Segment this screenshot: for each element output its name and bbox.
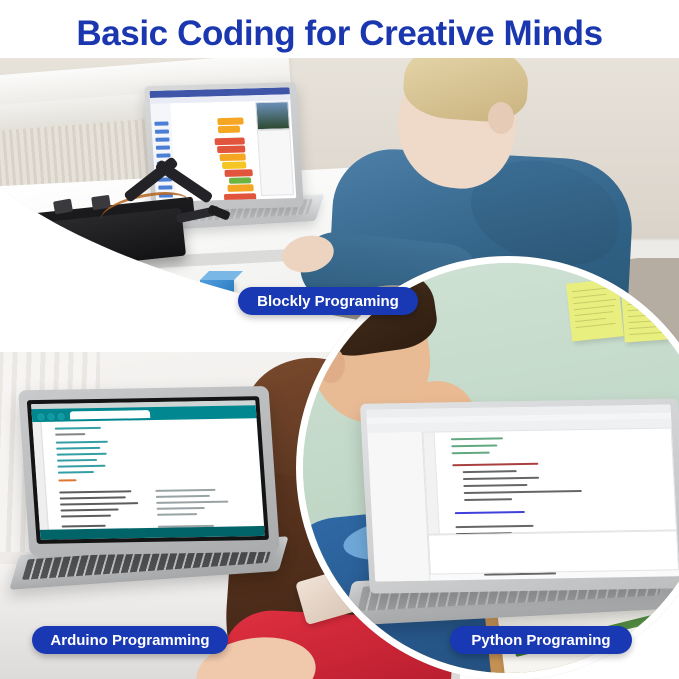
blockly-block[interactable]	[229, 177, 251, 184]
code-line	[55, 427, 101, 430]
code-line	[463, 477, 539, 480]
code-line	[452, 463, 538, 466]
wall-shelf	[0, 290, 213, 331]
blockly-block[interactable]	[218, 126, 240, 134]
code-line	[57, 453, 107, 456]
code-line	[58, 471, 94, 474]
blockly-block[interactable]	[227, 184, 253, 192]
code-line	[57, 459, 97, 462]
code-line	[55, 433, 85, 436]
blockly-block[interactable]	[217, 145, 245, 153]
blockly-screen[interactable]	[149, 87, 296, 201]
shelf-object	[58, 281, 80, 296]
code-line	[464, 490, 582, 494]
code-line	[455, 525, 533, 528]
code-line	[451, 444, 497, 447]
code-line	[155, 489, 215, 492]
code-line	[60, 502, 138, 505]
blockly-side-panel	[257, 129, 294, 196]
sketch-tab[interactable]	[70, 410, 151, 419]
code-line	[463, 484, 527, 487]
label-arduino-programming[interactable]: Arduino Programming	[32, 626, 228, 654]
verify-button[interactable]	[36, 412, 47, 422]
blockly-block[interactable]	[224, 169, 252, 177]
shelf-object	[30, 280, 50, 296]
code-line	[157, 507, 205, 510]
python-ide-screen[interactable]	[366, 404, 679, 581]
blockly-block[interactable]	[214, 137, 244, 145]
python-file-pane[interactable]	[367, 432, 430, 582]
code-line	[61, 515, 111, 518]
camera-preview	[255, 101, 290, 130]
macbook-lid	[18, 386, 280, 556]
blue-cube	[200, 280, 234, 314]
macbook-bezel	[27, 396, 269, 544]
arduino-status-bar	[40, 526, 265, 540]
code-line	[58, 479, 76, 481]
code-line	[56, 441, 108, 444]
arduino-ide-screen[interactable]	[31, 400, 265, 540]
label-python-programming[interactable]: Python Programing	[450, 626, 632, 654]
code-line	[59, 490, 131, 493]
blockly-block[interactable]	[224, 193, 256, 201]
sticky-note	[621, 288, 669, 343]
blockly-block[interactable]	[222, 161, 246, 169]
python-editor-pane[interactable]	[423, 427, 678, 534]
arduino-code-area[interactable]	[42, 420, 262, 527]
code-line	[60, 496, 126, 499]
code-line	[62, 525, 106, 528]
new-sketch-button[interactable]	[56, 412, 67, 422]
python-shell-pane[interactable]	[428, 530, 679, 574]
page-title: Basic Coding for Creative Minds	[0, 14, 679, 54]
code-line	[60, 508, 118, 511]
blockly-block[interactable]	[219, 153, 245, 161]
sticky-note	[566, 278, 624, 341]
label-blockly-programming[interactable]: Blockly Programing	[238, 287, 418, 315]
code-line	[156, 495, 210, 498]
code-line	[156, 501, 228, 504]
arduino-toolbar[interactable]	[31, 405, 256, 422]
code-line	[157, 513, 197, 516]
code-line	[455, 511, 525, 514]
shelf-object	[90, 286, 116, 295]
code-line	[492, 579, 580, 582]
blockly-block[interactable]	[226, 201, 256, 202]
upload-button[interactable]	[46, 412, 57, 422]
code-line	[464, 498, 512, 501]
code-line	[452, 452, 490, 455]
poster-canvas: Basic Coding for Creative Minds	[0, 0, 679, 679]
code-line	[57, 465, 105, 468]
python-laptop-lid	[360, 398, 679, 593]
code-line	[451, 437, 503, 440]
circle-boy-ear	[317, 347, 345, 383]
code-line	[56, 447, 100, 450]
blockly-block[interactable]	[217, 118, 243, 126]
code-line	[463, 470, 517, 473]
boy-ear	[488, 102, 514, 134]
panel-python	[296, 256, 679, 679]
python-code-area[interactable]	[435, 428, 676, 533]
